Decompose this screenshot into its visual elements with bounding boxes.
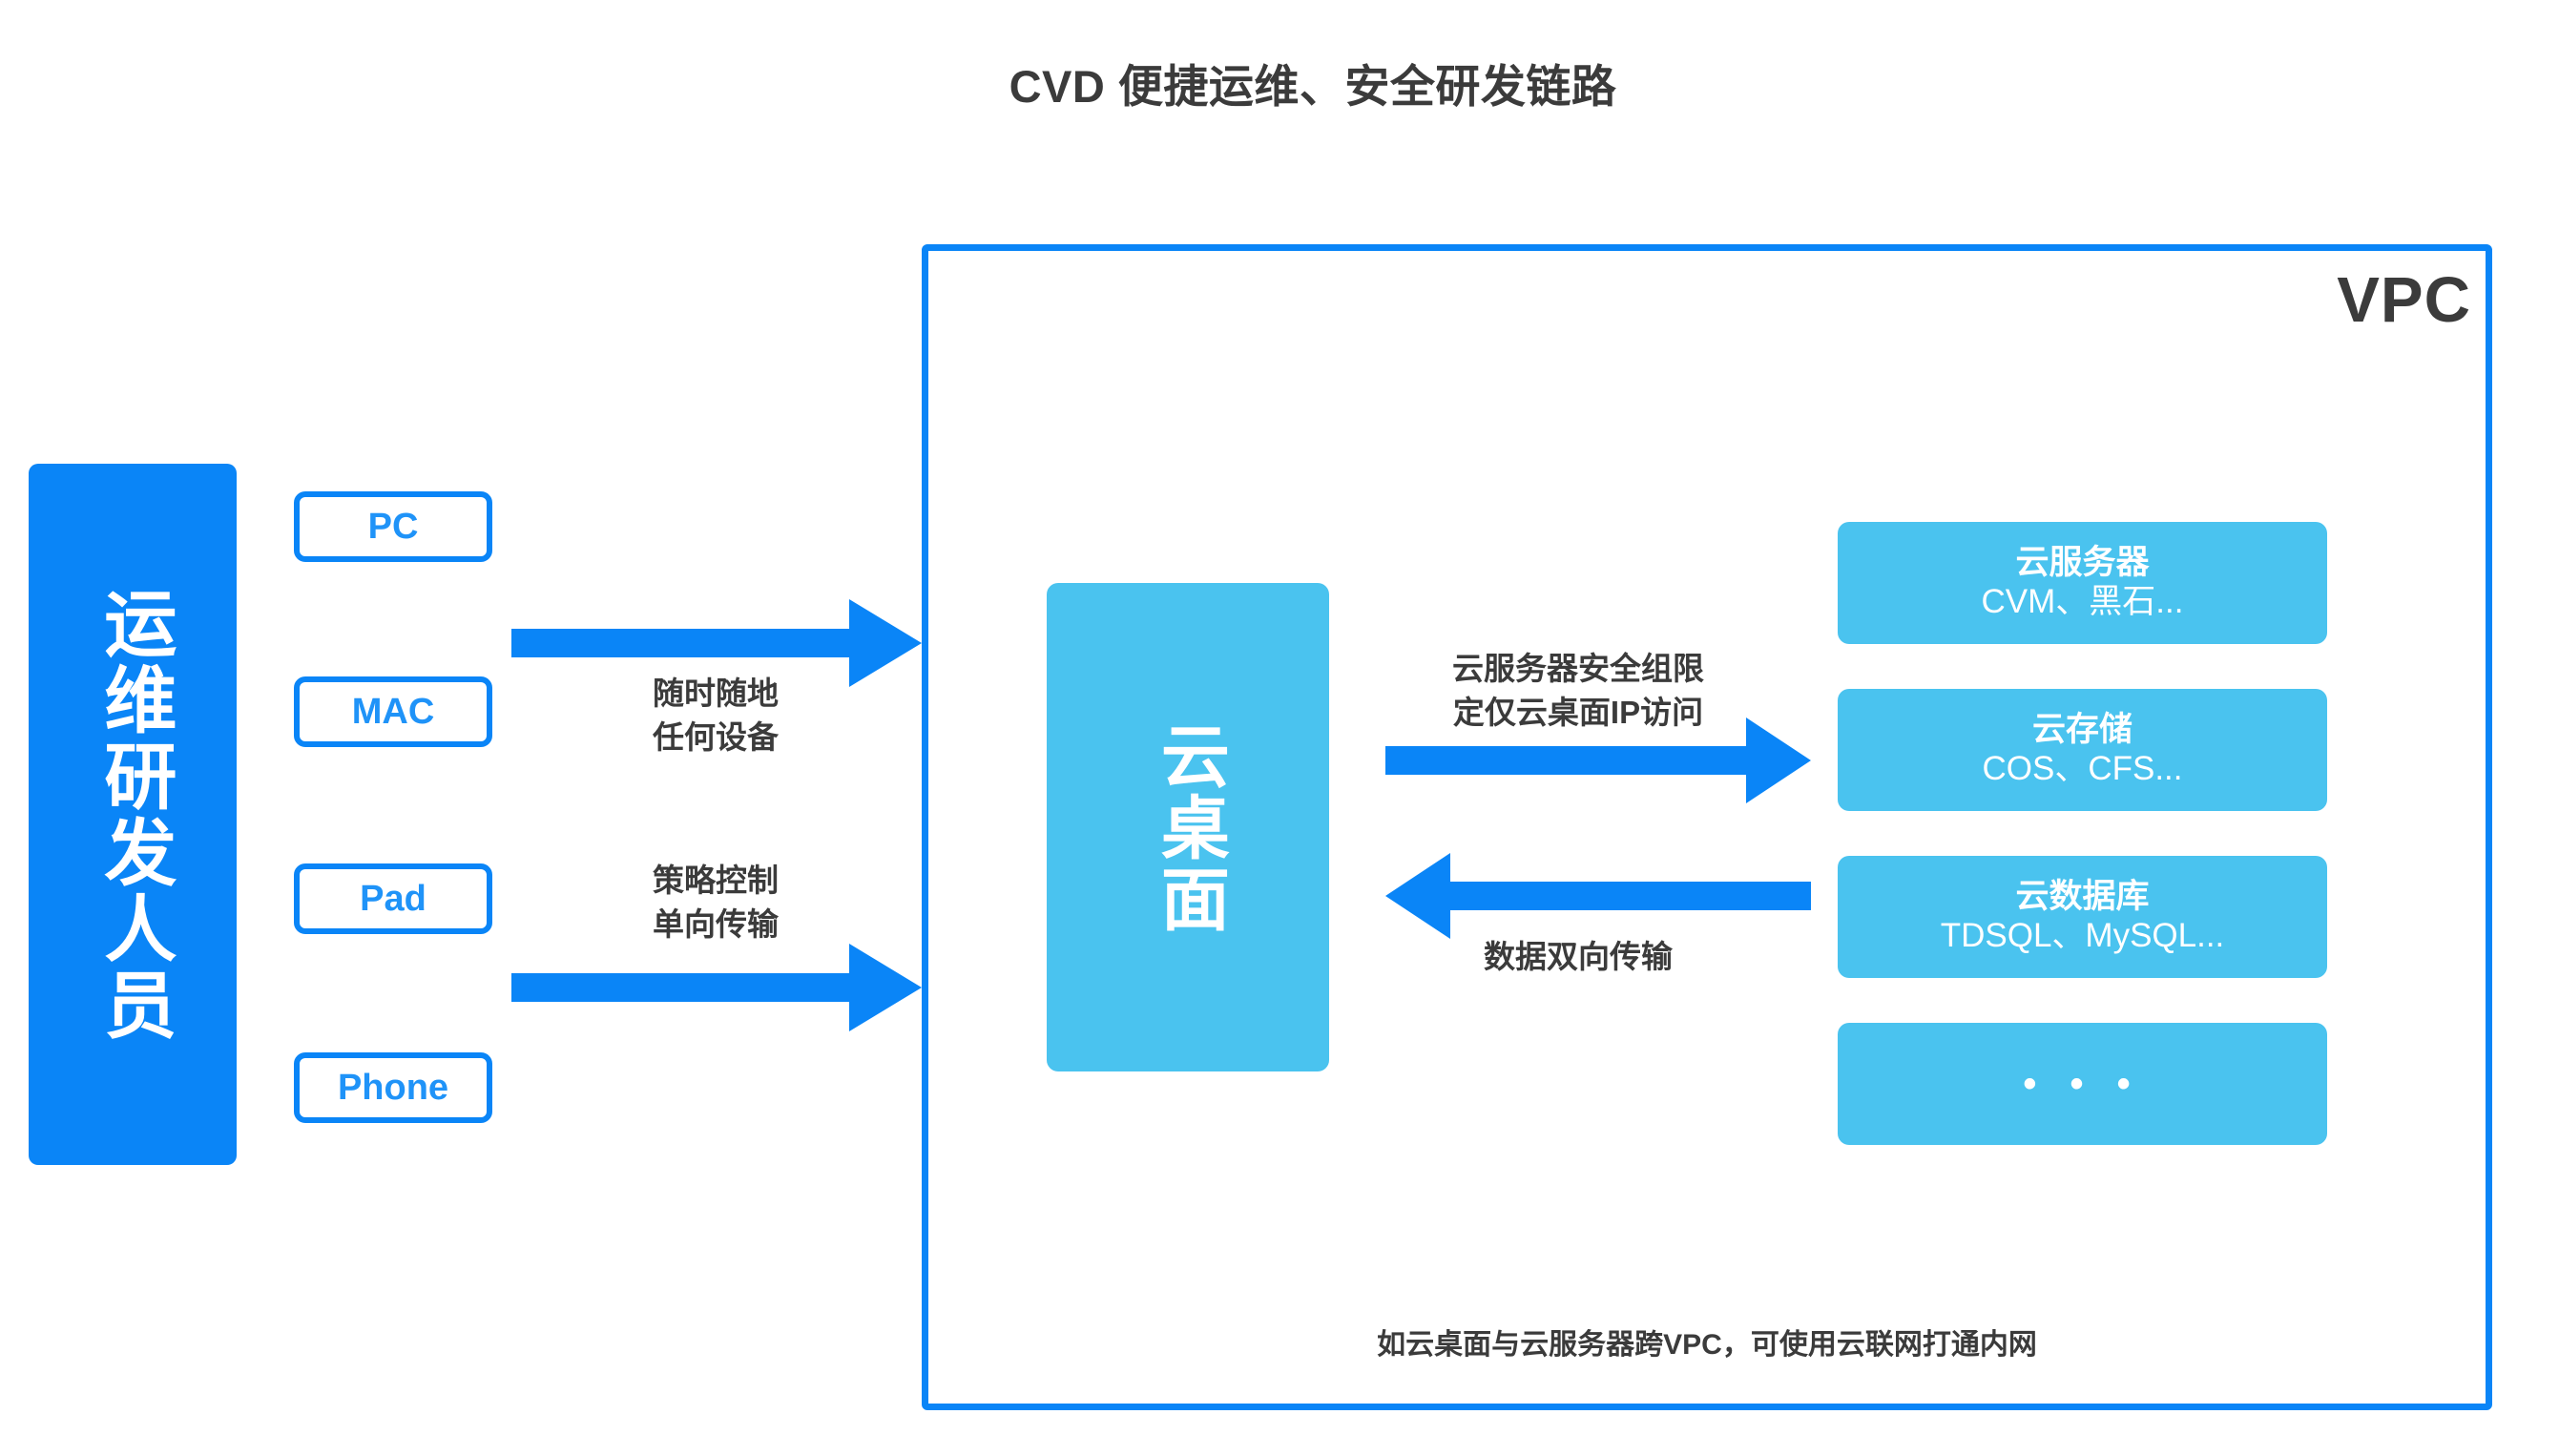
- device-chip-phone-label: Phone: [338, 1068, 448, 1109]
- arrow-caption-anywhere: 随时随地 任何设备: [572, 672, 859, 759]
- device-chip-mac-label: MAC: [352, 692, 435, 733]
- service-card-database-title: 云数据库: [2015, 877, 2149, 916]
- service-card-cvm-title: 云服务器: [2015, 543, 2149, 582]
- cloud-desktop-label: 云桌面: [1145, 720, 1232, 935]
- device-chip-pad-label: Pad: [360, 879, 426, 920]
- arrow-caption-policy: 策略控制 单向传输: [572, 859, 859, 946]
- vpc-label: VPC: [2337, 263, 2471, 337]
- service-card-cos-title: 云存储: [2032, 710, 2132, 749]
- service-card-more: • • •: [1838, 1023, 2327, 1145]
- arrow-caption-security-group: 云服务器安全组限 定仅云桌面IP访问: [1378, 647, 1779, 734]
- service-card-cos: 云存储 COS、CFS...: [1838, 689, 2327, 811]
- cloud-desktop-box: 云桌面: [1047, 583, 1329, 1071]
- vpc-footnote: 如云桌面与云服务器跨VPC，可使用云联网打通内网: [922, 1321, 2492, 1362]
- service-card-database: 云数据库 TDSQL、MySQL...: [1838, 856, 2327, 978]
- arrow-devices-to-vpc-bottom: [511, 944, 922, 1031]
- user-role-label: 运维研发人员: [89, 586, 177, 1044]
- page-title: CVD 便捷运维、安全研发链路: [0, 50, 2559, 115]
- service-card-database-sub: TDSQL、MySQL...: [1941, 916, 2225, 957]
- diagram-canvas: CVD 便捷运维、安全研发链路 VPC 如云桌面与云服务器跨VPC，可使用云联网…: [0, 0, 2559, 1456]
- device-chip-phone[interactable]: Phone: [294, 1052, 492, 1123]
- device-chip-pad[interactable]: Pad: [294, 863, 492, 934]
- service-card-cvm-sub: CVM、黑石...: [1982, 582, 2184, 623]
- service-card-cos-sub: COS、CFS...: [1982, 749, 2182, 790]
- ellipsis-icon: • • •: [2023, 1065, 2141, 1103]
- device-chip-mac[interactable]: MAC: [294, 676, 492, 747]
- service-card-cvm: 云服务器 CVM、黑石...: [1838, 522, 2327, 644]
- device-chip-pc-label: PC: [368, 507, 419, 548]
- arrow-caption-bidirectional: 数据双向传输: [1378, 935, 1779, 979]
- user-role-box: 运维研发人员: [29, 464, 237, 1165]
- device-chip-pc[interactable]: PC: [294, 491, 492, 562]
